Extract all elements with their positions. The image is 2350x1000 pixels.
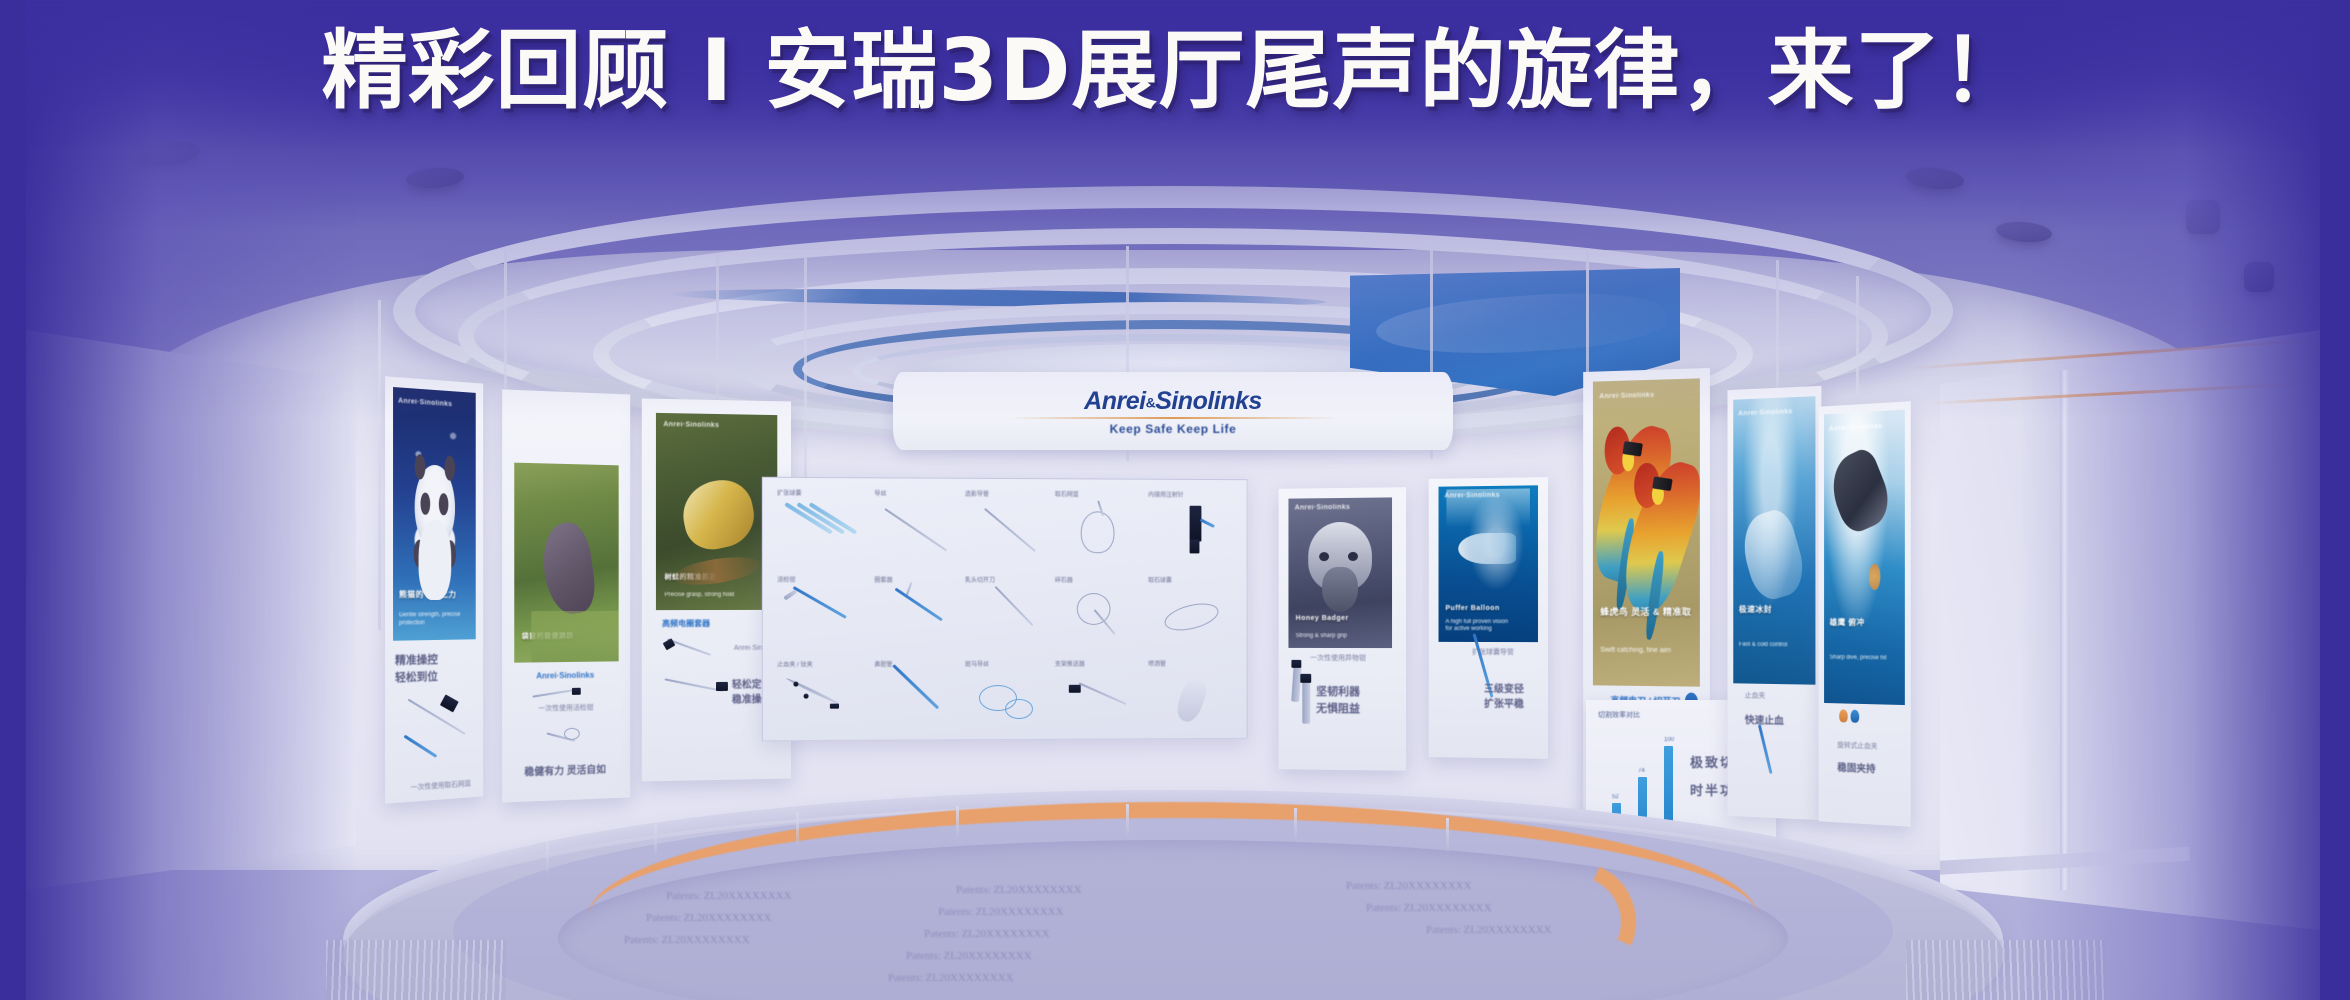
product-shaft: [532, 689, 575, 698]
floor-patent-row: Patents: ZL20XXXXXXXX: [938, 906, 1064, 918]
floor-patent-row: Patents: ZL20XXXXXXXX: [1366, 902, 1492, 914]
rail-post: [546, 842, 549, 876]
product-jaw: [1300, 674, 1311, 683]
floor-patent-row: Patents: ZL20XXXXXXXX: [1426, 924, 1552, 936]
panda-arm-icon: [413, 540, 425, 568]
floor-patent-row: Patents: ZL20XXXXXXXX: [666, 890, 792, 902]
product-cell: 斑马导丝: [965, 659, 1051, 733]
poster-panel-ice-blue[interactable]: Anrei·Sinolinks 极速冰封 Fast & cold control…: [1728, 386, 1822, 820]
product-basket: [1081, 511, 1115, 553]
rail-post: [1126, 804, 1129, 838]
product-label: 止血夹 / 钛夹: [777, 659, 813, 668]
poster-panel-badger[interactable]: Anrei·Sinolinks Honey Badger Strong & sh…: [1279, 487, 1407, 771]
poster-brand-mark: Anrei·Sinolinks: [1295, 504, 1350, 512]
poster-subtitle: Swift catching, fine aim: [1600, 646, 1692, 656]
poster-caption: 精准操控 轻松到位: [395, 652, 438, 686]
poster-art-puffer: Anrei·Sinolinks Puffer Balloon A high fu…: [1439, 485, 1538, 642]
rail-post: [1294, 808, 1297, 842]
product-pusher-shaft: [1079, 682, 1127, 705]
page-title: 精彩回顾 I 安瑞3D展厅尾声的旋律，来了！: [0, 28, 2350, 116]
poster-subtitle: Gentle strength, precise protection: [399, 612, 470, 628]
poster-art-ice-blue: Anrei·Sinolinks 极速冰封 Fast & cold control: [1733, 396, 1815, 685]
product-label: 内镜用注射针: [1148, 490, 1184, 499]
product-pusher-head: [1069, 685, 1081, 693]
poster-title: 树蛙的精准抓握: [665, 574, 769, 583]
brand-tagline: Keep Safe Keep Life: [1110, 422, 1237, 436]
poster-brand-mark: Anrei·Sinolinks: [663, 421, 719, 429]
product-tip: [716, 682, 728, 691]
product-needle-tip: [1200, 518, 1215, 528]
poster-caption: 坚韧利器 无惧阻益: [1316, 684, 1360, 717]
bird-dive-icon: [1824, 445, 1897, 536]
product-shaft: [1291, 666, 1301, 702]
banner-right-edge: [2320, 0, 2350, 1000]
floor-patent-row: Patents: ZL20XXXXXXXX: [1346, 880, 1472, 892]
product-spray-body: [1173, 676, 1210, 725]
exhibition-banner: Anrei·Sinolinks 熊猫的守护之力 Gentle strength,…: [0, 0, 2350, 1000]
product-loop: [564, 728, 580, 740]
poster-caption-small: 一次性使用活检钳: [538, 703, 593, 714]
poster-subtitle: Strong & sharp grip: [1296, 633, 1385, 641]
poster-panel-kangaroo[interactable]: 袋鼠的稳健跳跃 Anrei·Sinolinks 一次性使用活检钳 稳健有力 灵活…: [502, 389, 630, 802]
poster-subtitle: Sharp dive, precise hit: [1830, 655, 1899, 664]
poster-brand-mark: Anrei·Sinolinks: [1444, 492, 1499, 500]
product-cell: 碎石器: [1055, 575, 1140, 651]
flame-icon: [1839, 709, 1848, 722]
chart-title: 切割效率对比: [1598, 710, 1640, 720]
product-wire: [884, 508, 947, 551]
product-label: 圈套器: [874, 575, 892, 584]
floor-patent-row: Patents: ZL20XXXXXXXX: [906, 950, 1032, 962]
poster-subtitle: Precise grasp, strong hold: [665, 592, 769, 600]
poster-art-badger: Anrei·Sinolinks Honey Badger Strong & sh…: [1288, 497, 1392, 648]
chart-bar-value: 74: [1638, 768, 1645, 774]
rail-post: [956, 806, 959, 840]
product-label: 支架推送器: [1055, 659, 1085, 668]
poster-title: Honey Badger: [1296, 615, 1385, 624]
product-cell: 取石网篮: [1055, 489, 1140, 567]
poster-caption-small: 高频电圈套器: [662, 618, 710, 629]
poster-panel-panda[interactable]: Anrei·Sinolinks 熊猫的守护之力 Gentle strength,…: [385, 376, 483, 804]
sun-icon: [1869, 564, 1880, 590]
product-label: 斑马导丝: [965, 659, 989, 668]
right-vignette: [2020, 0, 2320, 1000]
floor-patent-row: Patents: ZL20XXXXXXXX: [624, 934, 750, 946]
poster-panel-eagle-ice[interactable]: Anrei·Sinolinks 雄鹰 俯冲 Sharp dive, precis…: [1818, 401, 1910, 827]
product-snare-shaft: [895, 588, 943, 622]
product-label: 取石球囊: [1148, 575, 1172, 584]
product-jaw: [572, 688, 581, 695]
product-label: 乳头切开刀: [965, 575, 995, 584]
product-papillotome: [995, 586, 1034, 626]
product-cell: 取石球囊: [1148, 575, 1239, 651]
product-cell: 鼻胆管: [874, 659, 961, 734]
product-label: 导丝: [874, 488, 886, 497]
product-cell: 导丝: [874, 488, 961, 567]
product-cell: 支架推送器: [1055, 659, 1140, 733]
poster-caption: 稳固夹持: [1837, 761, 1875, 778]
product-needle-handle: [1190, 506, 1202, 542]
rail-post: [654, 824, 657, 858]
poster-caption: 三级变径 扩张平稳: [1484, 682, 1524, 712]
poster-title: 蜂虎鸟 灵活 & 精准取: [1600, 607, 1692, 618]
product-stone-balloon: [1162, 599, 1221, 636]
product-label: 活检钳: [777, 575, 795, 584]
product-cell: 止血夹 / 钛夹: [777, 659, 864, 734]
panda-ears-icon: [393, 387, 476, 641]
product-shaft: [664, 678, 723, 692]
panda-eye-icon: [421, 492, 430, 515]
poster-art-eagle-ice: Anrei·Sinolinks 雄鹰 俯冲 Sharp dive, precis…: [1824, 410, 1905, 705]
poster-caption: 快速止血: [1745, 713, 1784, 729]
product-display-wall[interactable]: 扩张球囊 导丝 造影导管 取石网篮 内镜用注射针: [762, 477, 1248, 741]
poster-title: 雄鹰 俯冲: [1830, 618, 1899, 628]
left-vignette: [26, 0, 356, 1000]
poster-art-bee-eater: Anrei·Sinolinks 蜂虎鸟 灵活 & 精准取 Swift catch…: [1593, 378, 1700, 686]
product-cell: 乳头切开刀: [965, 575, 1051, 651]
product-shaft: [1758, 725, 1773, 774]
poster-art-frog: Anrei·Sinolinks 树蛙的精准抓握 Precise grasp, s…: [656, 413, 777, 610]
chart-bar-value: 100: [1664, 737, 1674, 743]
product-needle-base: [1190, 539, 1200, 553]
product-label: 取石网篮: [1055, 489, 1079, 498]
product-forceps-shaft: [793, 586, 847, 619]
poster-title: 袋鼠的稳健跳跃: [522, 633, 612, 642]
bird-icon: [1633, 459, 1689, 613]
panda-eye-icon: [439, 493, 448, 516]
poster-footer-brand: [1839, 709, 1859, 723]
product-zebra-loop: [1005, 699, 1033, 719]
exhibition-hall-photo: Anrei·Sinolinks 熊猫的守护之力 Gentle strength,…: [26, 0, 2320, 1000]
product-cell: 内镜用注射针: [1148, 490, 1239, 568]
product-nasal-tube: [892, 664, 939, 709]
product-cell: 造影导管: [965, 489, 1051, 567]
floor-patent-row: Patents: ZL20XXXXXXXX: [888, 972, 1014, 984]
poster-subtitle: A high full proven vision for active wor…: [1445, 619, 1531, 635]
product-tip: [403, 735, 437, 758]
product-shaft: [667, 638, 711, 655]
poster-art-panda: Anrei·Sinolinks 熊猫的守护之力 Gentle strength,…: [393, 387, 476, 641]
poster-caption-small: 一次性使用取石网篮: [411, 780, 471, 794]
poster-brand-mark: Anrei·Sinolinks: [1829, 423, 1882, 433]
product-label: 造影导管: [965, 489, 989, 498]
badger-eye-icon: [1319, 552, 1328, 561]
poster-caption-small: 旋转式止血夹: [1837, 741, 1877, 752]
product-clip-dot: [804, 694, 809, 699]
poster-brand-line: Anrei·Sinolinks: [536, 670, 594, 682]
product-forceps-jaw: [783, 589, 797, 600]
floor-patent-row: Patents: ZL20XXXXXXXX: [924, 928, 1050, 940]
product-label: 鼻胆管: [874, 659, 892, 668]
poster-caption: 稳健有力 灵活自如: [524, 763, 606, 781]
product-clip-head: [830, 704, 839, 709]
product-label: 扩张球囊: [777, 488, 801, 497]
poster-title: 极速冰封: [1739, 605, 1810, 615]
product-cell: 活检钳: [777, 575, 864, 652]
banner-left-edge: [0, 0, 26, 1000]
badger-eye-icon: [1348, 552, 1357, 561]
product-cell: 喷洒管: [1148, 659, 1239, 733]
poster-caption-small: 止血夹: [1745, 691, 1765, 701]
product-cell: 扩张球囊: [777, 488, 864, 567]
poster-title: 熊猫的守护之力: [399, 590, 470, 600]
product-jaw: [1291, 660, 1301, 668]
floor-patent-row: Patents: ZL20XXXXXXXX: [646, 912, 772, 924]
rail-post: [796, 812, 799, 846]
poster-panel-puffer[interactable]: Anrei·Sinolinks Puffer Balloon A high fu…: [1429, 477, 1548, 759]
product-shaft: [1302, 680, 1310, 724]
product-handle: [440, 694, 459, 712]
product-label: 喷洒管: [1148, 659, 1166, 668]
chart-bar-value: 52: [1612, 794, 1619, 800]
poster-art-kangaroo: 袋鼠的稳健跳跃: [514, 463, 618, 663]
product-clip-dot: [793, 682, 798, 687]
product-catheter: [984, 508, 1036, 552]
rail-post: [1446, 818, 1449, 852]
floor-patent-row: Patents: ZL20XXXXXXXX: [956, 884, 1082, 896]
product-label: 碎石器: [1055, 575, 1073, 584]
product-balloon: [809, 502, 858, 534]
drop-icon: [1851, 710, 1860, 723]
poster-subtitle: Fast & cold control: [1739, 642, 1810, 650]
poster-caption-small: 一次性使用异物钳: [1310, 654, 1366, 664]
product-cell: 圈套器: [874, 575, 961, 651]
poster-title: Puffer Balloon: [1445, 605, 1531, 614]
